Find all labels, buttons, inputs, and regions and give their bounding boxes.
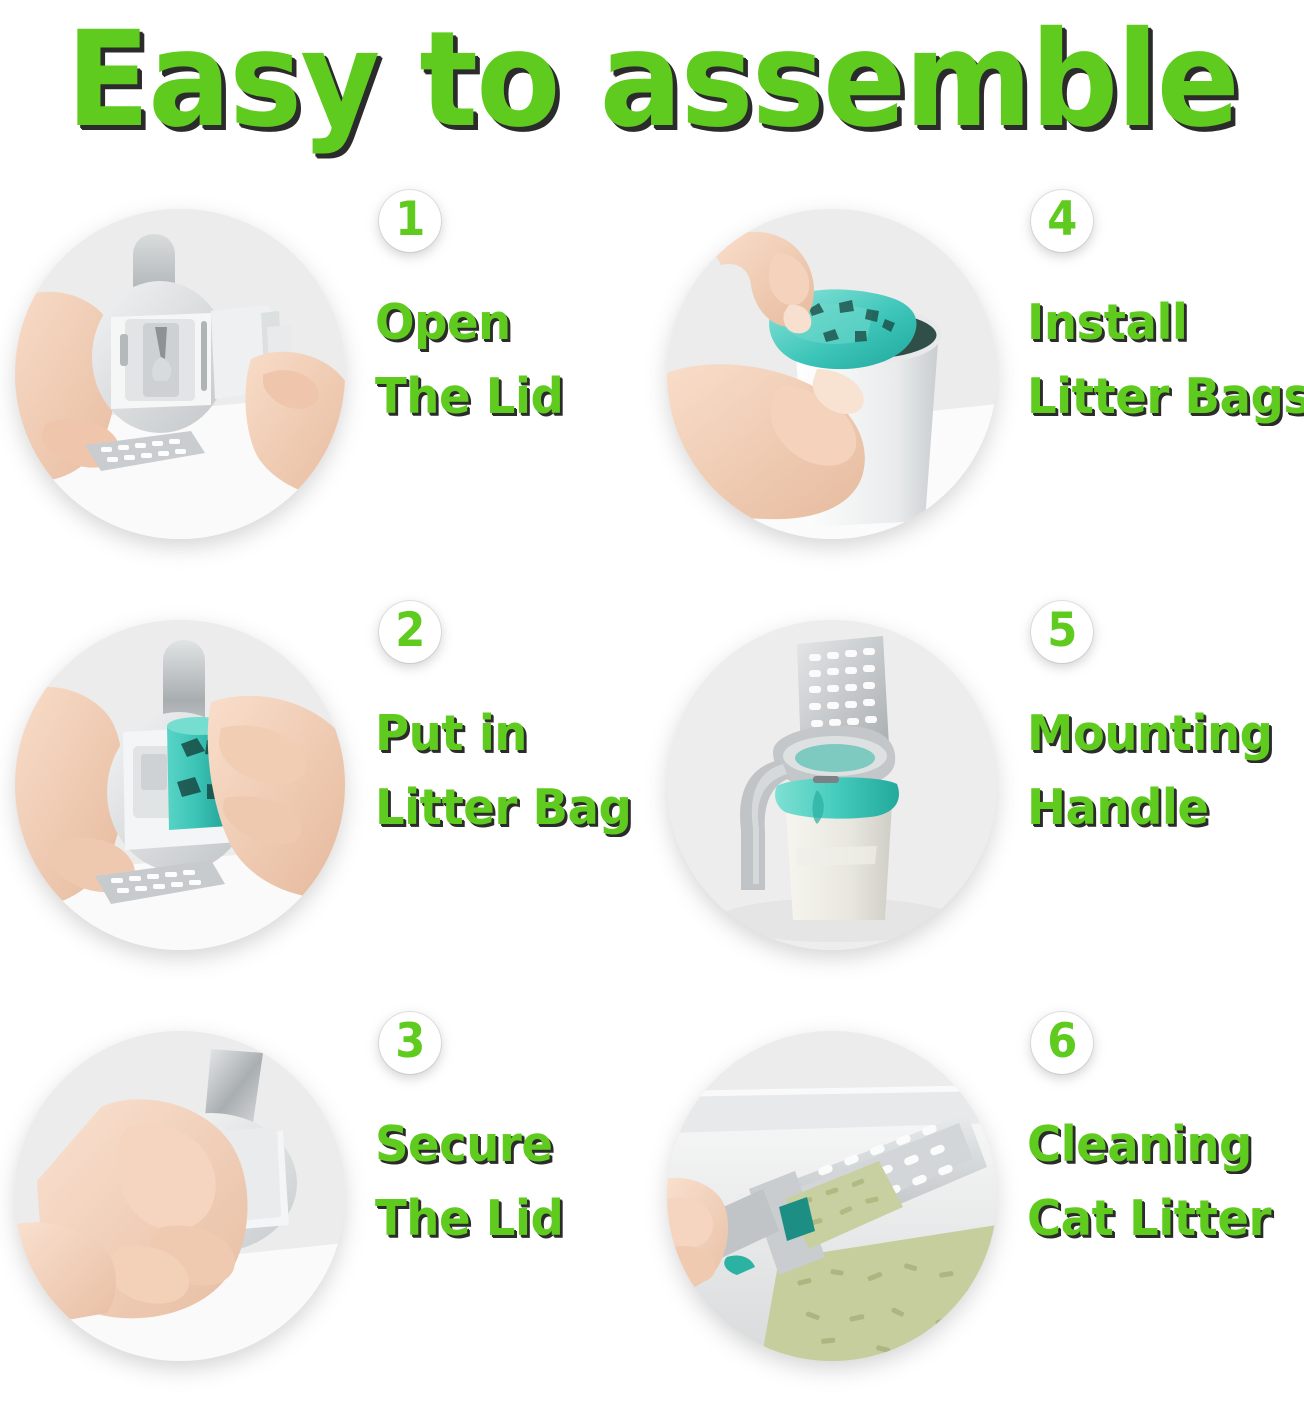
step-photo-open-lid <box>15 209 345 539</box>
step-number-4: 4 <box>1047 196 1077 243</box>
illustration-secure-lid <box>15 1031 345 1361</box>
step-text-4: 4 Install Litter Bags <box>997 168 1304 433</box>
illustration-open-lid <box>15 209 345 539</box>
step-photo-mounting-handle <box>667 620 997 950</box>
illustration-put-in-bag <box>15 620 345 950</box>
step-card-3: 3 Secure The Lid <box>0 990 652 1401</box>
step-card-2: 2 Put in Litter Bag <box>0 579 652 990</box>
step-label-2-line1: Put in <box>375 697 638 771</box>
step-label-3-line1: Secure <box>375 1108 638 1182</box>
step-number-badge-5: 5 <box>1031 601 1093 663</box>
illustration-cleaning-litter <box>667 1031 997 1361</box>
step-label-4-line2: Litter Bags <box>1027 360 1304 434</box>
step-label-6-line2: Cat Litter <box>1027 1182 1290 1256</box>
step-card-6: 6 Cleaning Cat Litter <box>652 990 1304 1401</box>
step-number-badge-2: 2 <box>379 601 441 663</box>
step-number-2: 2 <box>395 607 425 654</box>
step-label-4-line1: Install <box>1027 286 1304 360</box>
step-label-6-line1: Cleaning <box>1027 1108 1290 1182</box>
step-text-6: 6 Cleaning Cat Litter <box>997 990 1304 1255</box>
infographic-page: Easy to assemble <box>0 0 1304 1401</box>
page-title: Easy to assemble <box>66 14 1238 146</box>
step-label-5-line2: Handle <box>1027 771 1290 845</box>
step-label-2-line2: Litter Bag <box>375 771 638 845</box>
step-text-1: 1 Open The Lid <box>345 168 652 433</box>
step-text-2: 2 Put in Litter Bag <box>345 579 652 844</box>
step-label-1-line2: The Lid <box>375 360 638 434</box>
step-card-1: 1 Open The Lid <box>0 168 652 579</box>
step-text-5: 5 Mounting Handle <box>997 579 1304 844</box>
step-number-5: 5 <box>1047 607 1077 654</box>
step-photo-secure-lid <box>15 1031 345 1361</box>
step-number-6: 6 <box>1047 1018 1077 1065</box>
step-number-badge-1: 1 <box>379 190 441 252</box>
illustration-install-bags <box>667 209 997 539</box>
step-label-3-line2: The Lid <box>375 1182 638 1256</box>
step-number-badge-6: 6 <box>1031 1012 1093 1074</box>
title-banner: Easy to assemble <box>0 0 1304 160</box>
step-number-badge-4: 4 <box>1031 190 1093 252</box>
step-label-5-line1: Mounting <box>1027 697 1290 771</box>
step-card-5: 5 Mounting Handle <box>652 579 1304 990</box>
step-number-badge-3: 3 <box>379 1012 441 1074</box>
step-photo-install-bags <box>667 209 997 539</box>
step-photo-cleaning-litter <box>667 1031 997 1361</box>
step-number-3: 3 <box>395 1018 425 1065</box>
step-label-1-line1: Open <box>375 286 638 360</box>
step-number-1: 1 <box>395 196 425 243</box>
step-text-3: 3 Secure The Lid <box>345 990 652 1255</box>
step-photo-put-in-bag <box>15 620 345 950</box>
illustration-mounting-handle <box>667 620 997 950</box>
step-card-4: 4 Install Litter Bags <box>652 168 1304 579</box>
steps-grid: 1 Open The Lid <box>0 168 1304 1401</box>
